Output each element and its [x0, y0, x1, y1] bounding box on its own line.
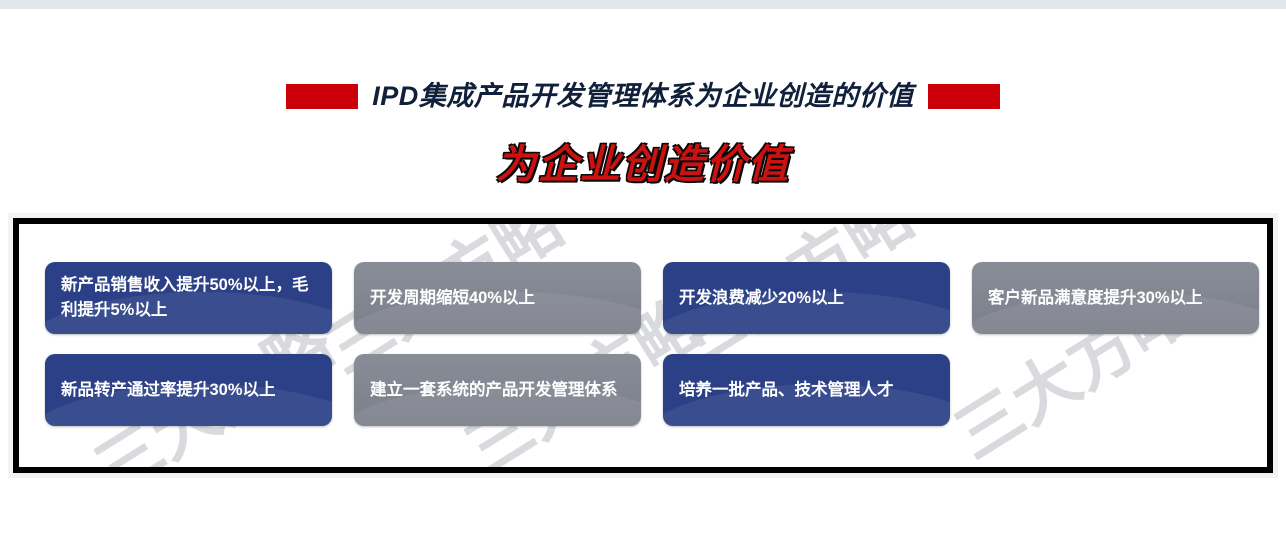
value-box[interactable]: 开发浪费减少20%以上: [663, 262, 950, 334]
value-box-grid: 新产品销售收入提升50%以上，毛利提升5%以上 开发周期缩短40%以上 开发浪费…: [19, 224, 1267, 426]
headline-wrap: 为企业创造价值: [0, 140, 1286, 190]
title-accent-bar-left: [286, 84, 358, 109]
value-box-label: 新品转产通过率提升30%以上: [61, 378, 276, 403]
value-box-label: 建立一套系统的产品开发管理体系: [370, 378, 618, 403]
headline-text: 为企业创造价值: [496, 140, 790, 190]
slide-canvas: IPD集成产品开发管理体系为企业创造的价值 为企业创造价值 三大方略 三大方略 …: [0, 0, 1286, 555]
value-box-label: 培养一批产品、技术管理人才: [679, 378, 894, 403]
value-box[interactable]: 新产品销售收入提升50%以上，毛利提升5%以上: [45, 262, 332, 334]
value-box-label: 开发周期缩短40%以上: [370, 286, 535, 311]
value-box-label: 新产品销售收入提升50%以上，毛利提升5%以上: [61, 273, 316, 323]
value-box[interactable]: 培养一批产品、技术管理人才: [663, 354, 950, 426]
content-frame-outer: 三大方略 三大方略 三大方略 三大方略 三大方略 新产品销售收入提升50%以上，…: [8, 213, 1278, 478]
value-box-label: 开发浪费减少20%以上: [679, 286, 844, 311]
value-box[interactable]: 开发周期缩短40%以上: [354, 262, 641, 334]
content-frame: 三大方略 三大方略 三大方略 三大方略 三大方略 新产品销售收入提升50%以上，…: [13, 218, 1273, 473]
page-title: IPD集成产品开发管理体系为企业创造的价值: [372, 80, 914, 112]
value-box[interactable]: 客户新品满意度提升30%以上: [972, 262, 1259, 334]
top-accent-strip: [0, 0, 1286, 9]
value-box-row-2: 新品转产通过率提升30%以上 建立一套系统的产品开发管理体系 培养一批产品、技术…: [45, 354, 1267, 426]
value-box-row-1: 新产品销售收入提升50%以上，毛利提升5%以上 开发周期缩短40%以上 开发浪费…: [45, 262, 1267, 334]
value-box-label: 客户新品满意度提升30%以上: [988, 286, 1203, 311]
title-row: IPD集成产品开发管理体系为企业创造的价值: [0, 78, 1286, 114]
value-box[interactable]: 建立一套系统的产品开发管理体系: [354, 354, 641, 426]
title-accent-bar-right: [928, 84, 1000, 109]
value-box[interactable]: 新品转产通过率提升30%以上: [45, 354, 332, 426]
